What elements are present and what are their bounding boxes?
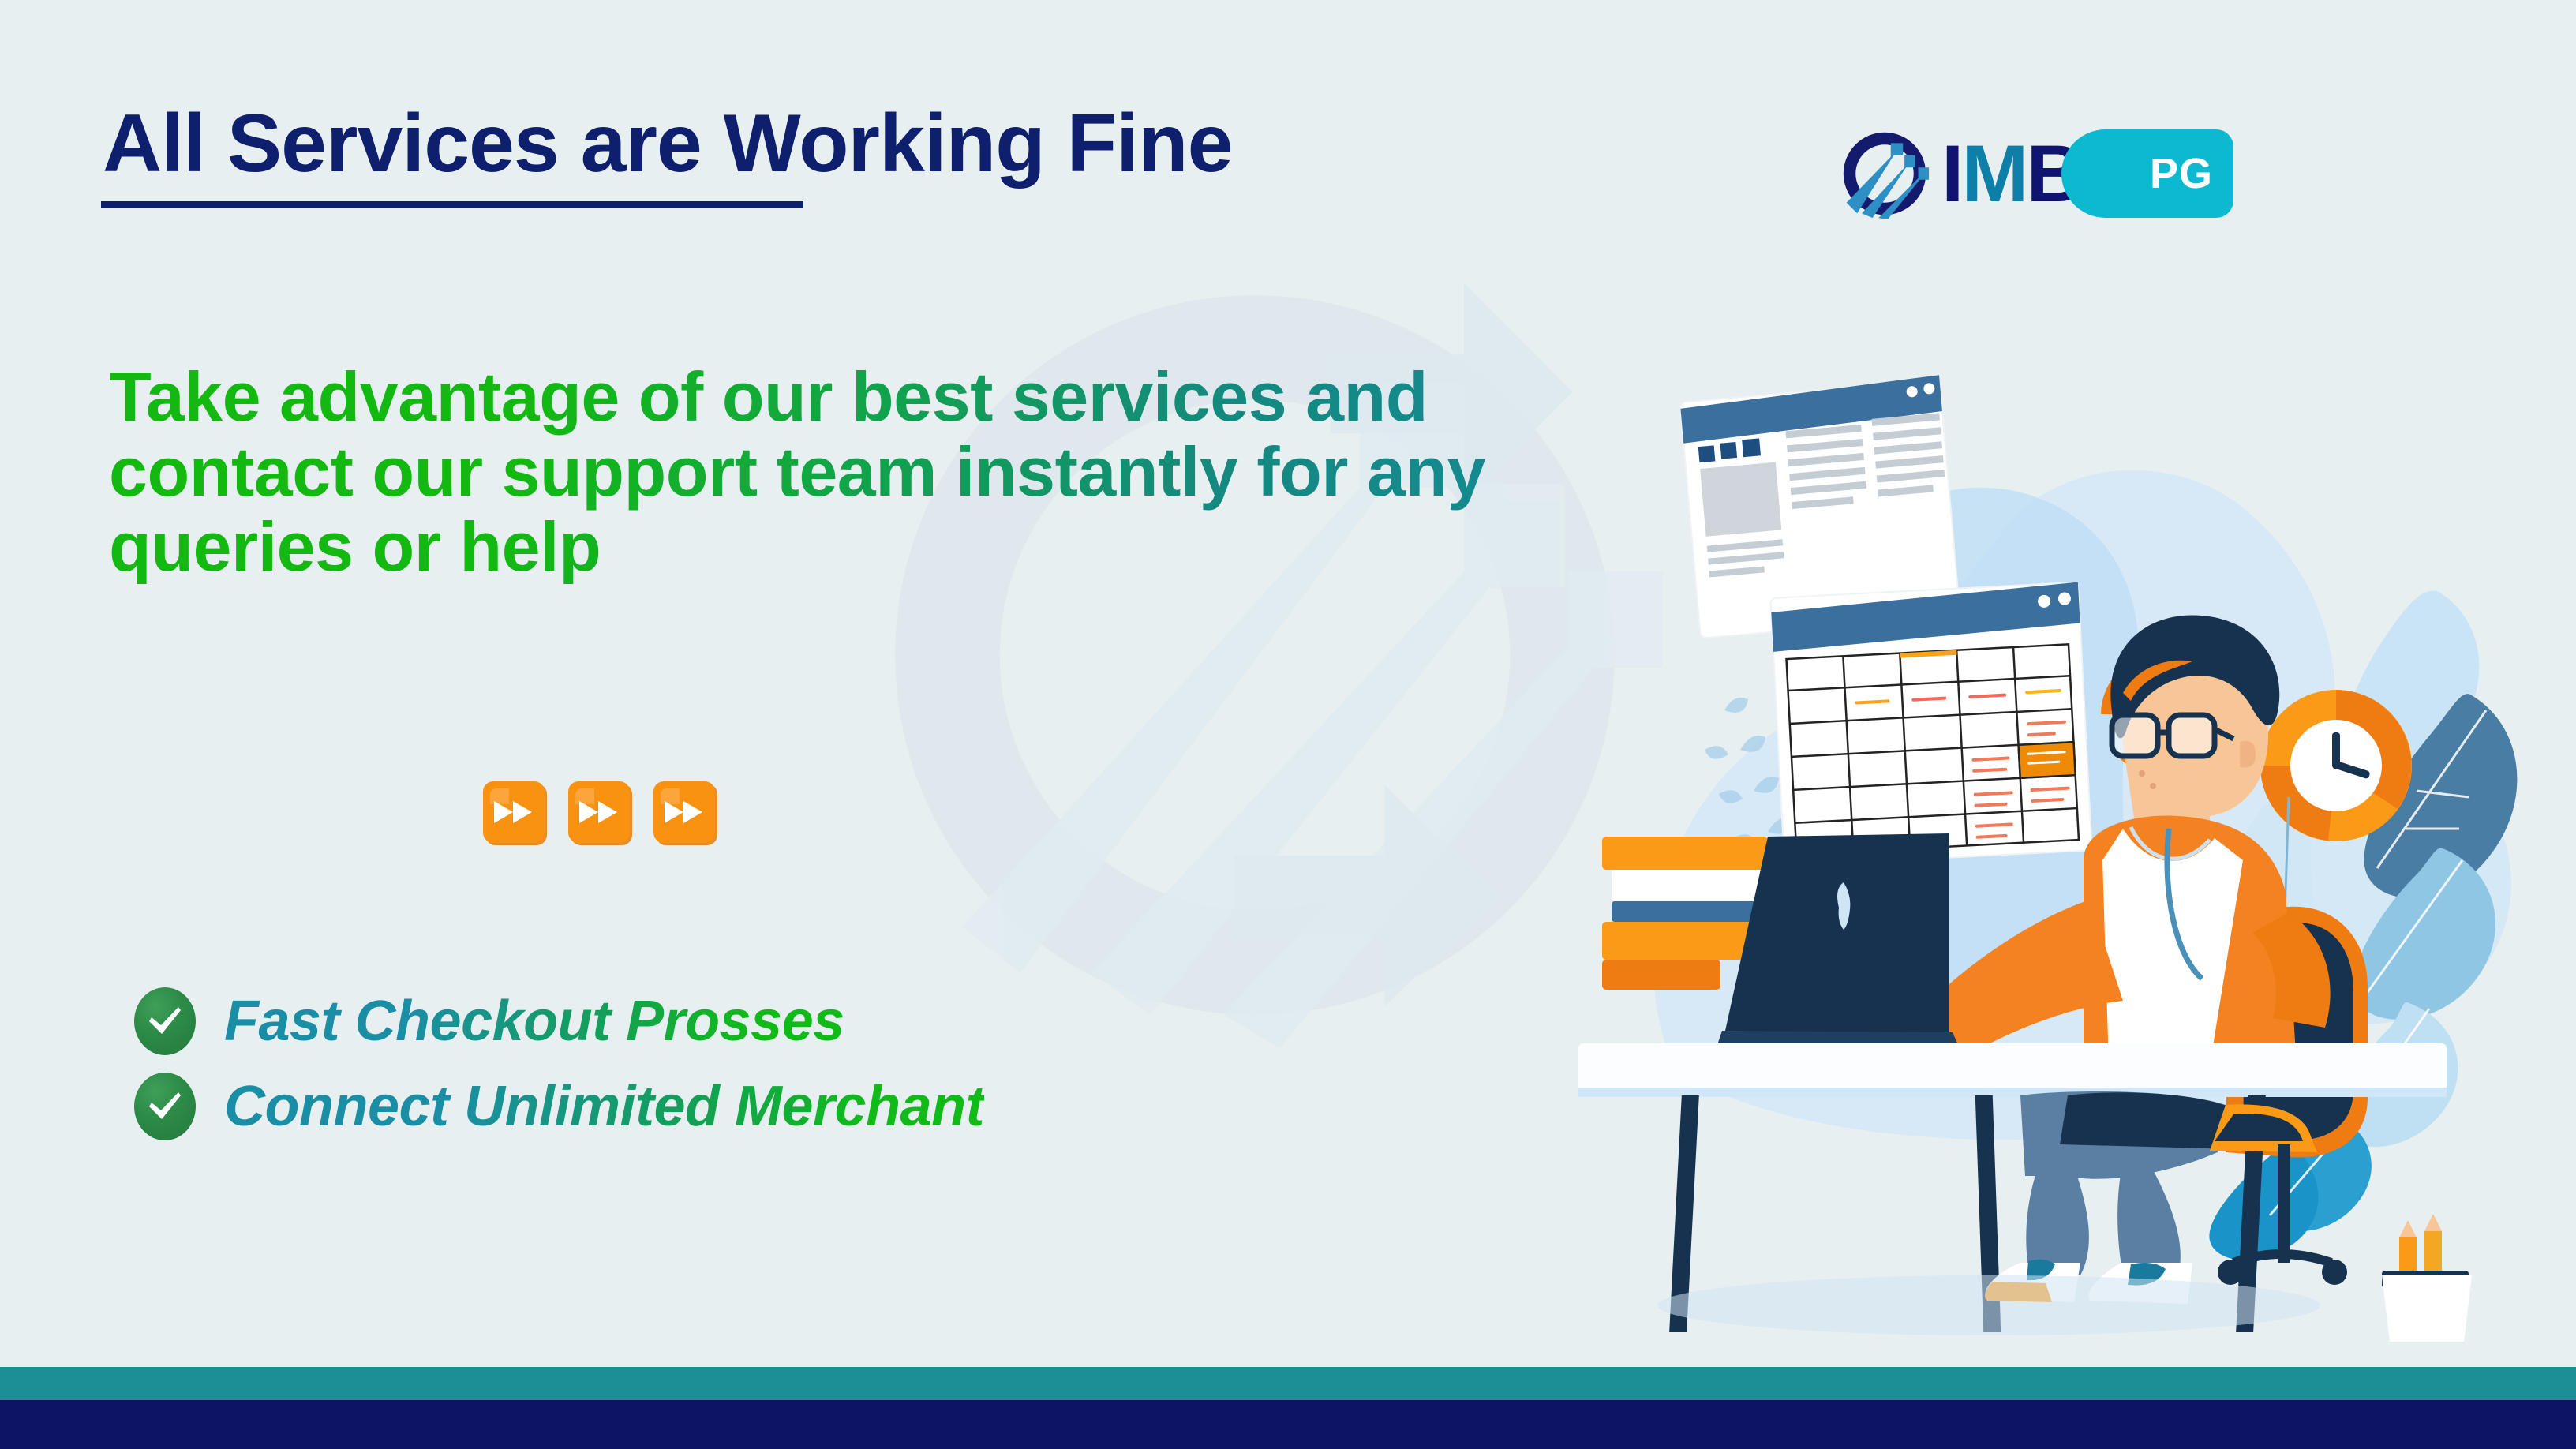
- list-item: Connect Unlimited Merchant: [134, 1064, 984, 1149]
- logo-letter-m: M: [1961, 129, 2026, 219]
- imb-logo-mark-icon: [1839, 128, 1930, 219]
- check-circle-icon: [134, 987, 196, 1055]
- man-working-at-desk-illustration: [1578, 355, 2576, 1342]
- list-item: Fast Checkout Prosses: [134, 979, 984, 1064]
- logo-letter-i: I: [1941, 129, 1961, 219]
- page-title: All Services are Working Fine: [103, 103, 1232, 185]
- pencil-cup: [2382, 1214, 2472, 1342]
- imb-pg-logo[interactable]: IMB PG: [1839, 126, 2233, 221]
- fast-forward-icon: [653, 781, 715, 843]
- fast-forward-button-3[interactable]: [653, 781, 715, 843]
- list-item-label: Fast Checkout Prosses: [224, 993, 844, 1050]
- clock-icon: [2260, 690, 2412, 841]
- navy-bar: [0, 1400, 2576, 1449]
- check-circle-icon: [134, 1073, 196, 1140]
- browser-window-calendar: [1770, 582, 2091, 867]
- pg-badge: PG: [2061, 129, 2233, 218]
- floor-shadow: [1657, 1275, 2320, 1335]
- fast-forward-icon: [568, 781, 630, 843]
- pg-badge-label: PG: [2150, 152, 2213, 195]
- list-item-label: Connect Unlimited Merchant: [224, 1078, 984, 1135]
- feature-list: Fast Checkout Prosses Connect Unlimited …: [134, 979, 984, 1149]
- fast-forward-button-1[interactable]: [483, 781, 545, 843]
- page-title-underline: [101, 201, 803, 208]
- content-column: All Services are Working Fine Take advan…: [0, 0, 1618, 1342]
- fast-forward-icon: [483, 781, 545, 843]
- fast-forward-button-2[interactable]: [568, 781, 630, 843]
- person-legs: [1985, 1091, 2241, 1304]
- fast-forward-button-row: [483, 781, 715, 843]
- subheadline-text: Take advantage of our best services and …: [109, 359, 1593, 584]
- teal-bar: [0, 1367, 2576, 1400]
